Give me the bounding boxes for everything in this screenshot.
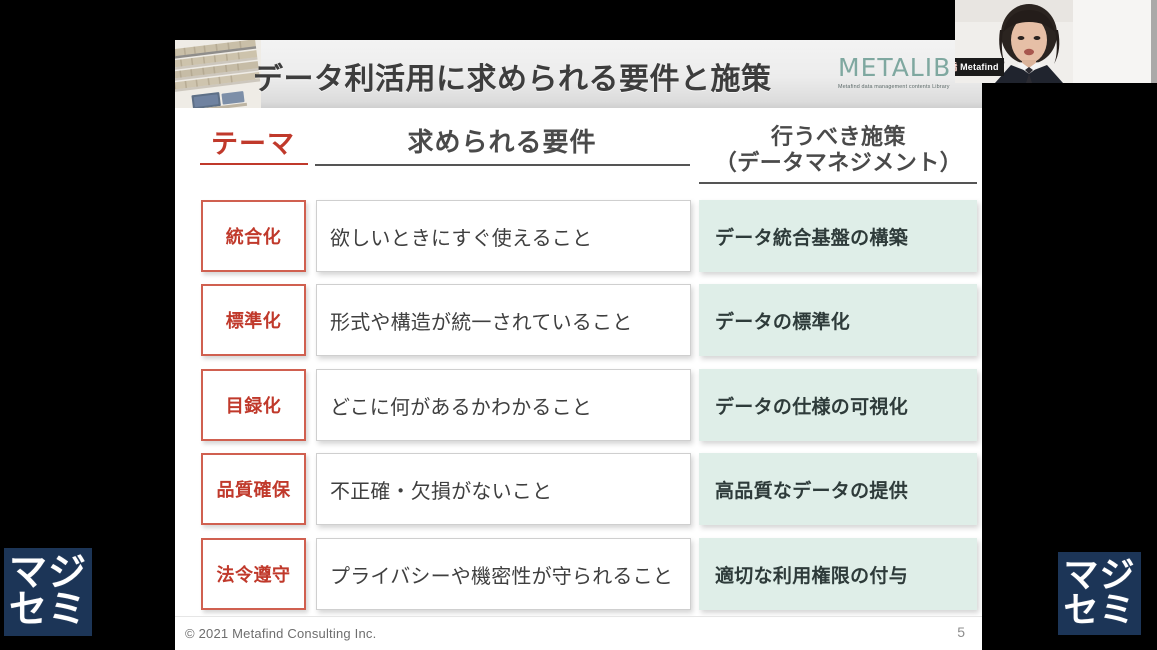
theme-cell: 標準化 [201, 284, 306, 356]
majisemi-logo-left-line2: セミ [9, 592, 87, 629]
column-header-theme-divider [200, 163, 308, 165]
theme-cell: 目録化 [201, 369, 306, 441]
requirement-label: 欲しいときにすぐ使えること [330, 222, 592, 251]
participant-video-tile[interactable]: 高橋 Metafind [955, 0, 1157, 83]
majisemi-logo-left-line1: マジ [9, 555, 87, 592]
requirement-cell: プライバシーや機密性が守られること [316, 538, 691, 610]
theme-label: 法令遵守 [217, 561, 291, 587]
theme-cell: 統合化 [201, 200, 306, 272]
majisemi-logo-left: マジ セミ [4, 548, 92, 636]
requirement-label: どこに何があるかわかること [330, 391, 592, 420]
theme-label: 目録化 [226, 392, 282, 418]
requirement-label: プライバシーや機密性が守られること [330, 560, 673, 589]
action-label: データの標準化 [715, 307, 850, 334]
action-cell: データの標準化 [699, 284, 977, 356]
requirement-cell: 欲しいときにすぐ使えること [316, 200, 691, 272]
theme-cell: 品質確保 [201, 453, 306, 525]
column-header-action-line1: 行うべき施策 [695, 124, 982, 149]
video-stage: データ利活用に求められる要件と施策 METALIB Metafind data … [0, 0, 1157, 650]
theme-label: 統合化 [226, 223, 282, 249]
requirement-cell: どこに何があるかわかること [316, 369, 691, 441]
column-header-theme: テーマ [203, 122, 303, 161]
column-header-action: 行うべき施策 （データマネジメント） [695, 124, 982, 176]
theme-label: 標準化 [226, 307, 282, 333]
action-cell: データ統合基盤の構築 [699, 200, 977, 272]
theme-cell: 法令遵守 [201, 538, 306, 610]
participant-name-jp: 高橋 [955, 62, 957, 72]
copyright-notice: © 2021 Metafind Consulting Inc. [185, 626, 376, 641]
action-label: 高品質なデータの提供 [715, 476, 908, 503]
requirement-cell: 不正確・欠損がないこと [316, 453, 691, 525]
footer-divider [175, 616, 982, 617]
action-label: データ統合基盤の構築 [715, 223, 908, 250]
column-header-requirement-divider [315, 164, 690, 166]
majisemi-logo-right: マジ セミ [1058, 552, 1141, 635]
action-cell: データの仕様の可視化 [699, 369, 977, 441]
majisemi-logo-right-line1: マジ [1063, 559, 1135, 593]
action-label: データの仕様の可視化 [715, 392, 908, 419]
theme-label: 品質確保 [217, 476, 291, 502]
column-header-action-line2: （データマネジメント） [695, 149, 982, 176]
page-number: 5 [935, 624, 965, 640]
library-bookshelf-photo [175, 40, 261, 108]
page-title: データ利活用に求められる要件と施策 [253, 54, 772, 98]
participant-name-tag: 高橋 Metafind [955, 58, 1004, 76]
majisemi-logo-right-line2: セミ [1063, 594, 1135, 628]
metalib-tagline: Metafind data management contents Librar… [838, 84, 978, 90]
action-cell: 適切な利用権限の付与 [699, 538, 977, 610]
column-header-requirement: 求められる要件 [317, 122, 687, 159]
requirement-label: 形式や構造が統一されていること [330, 306, 632, 335]
requirement-label: 不正確・欠損がないこと [330, 475, 552, 504]
participant-org: Metafind [960, 62, 999, 72]
action-label: 適切な利用権限の付与 [715, 561, 908, 588]
column-header-action-divider [699, 182, 977, 184]
action-cell: 高品質なデータの提供 [699, 453, 977, 525]
requirement-cell: 形式や構造が統一されていること [316, 284, 691, 356]
slide-title-band: データ利活用に求められる要件と施策 METALIB Metafind data … [175, 40, 982, 108]
presentation-slide: データ利活用に求められる要件と施策 METALIB Metafind data … [175, 40, 982, 650]
